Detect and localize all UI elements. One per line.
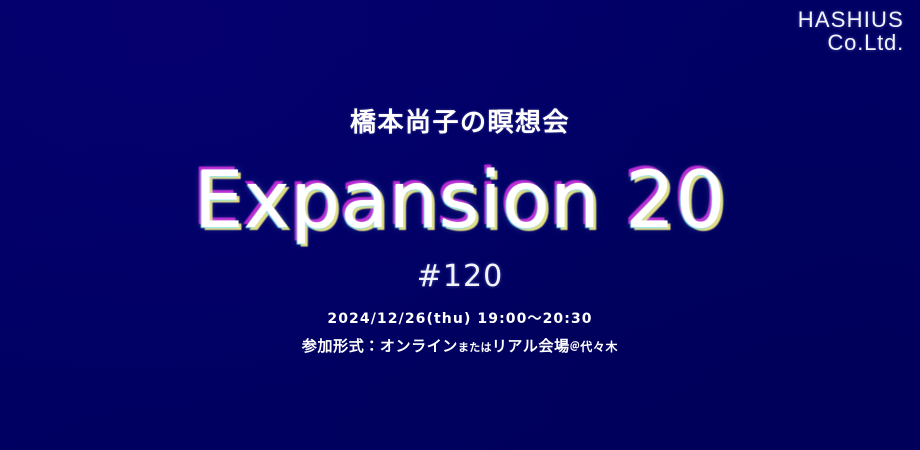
brand-suffix: Co.Ltd.: [798, 31, 904, 54]
format-at-symbol: ＠: [570, 342, 581, 353]
event-title-group: Expansion 20 Expansion 20 Expansion 20 E…: [0, 161, 920, 247]
format-label: 参加形式：: [302, 337, 380, 355]
format-option-online: オンライン: [380, 337, 458, 355]
format-conjunction: または: [458, 341, 492, 354]
format-option-venue: リアル会場: [492, 337, 570, 355]
format-venue-name: 代々木: [580, 340, 618, 354]
content-stack: 橋本尚子の瞑想会 Expansion 20 Expansion 20 Expan…: [0, 108, 920, 356]
event-format-line: 参加形式：オンラインまたはリアル会場＠代々木: [0, 335, 920, 356]
event-issue-number: #120: [0, 259, 920, 294]
poster-canvas: HASHIUS Co.Ltd. 橋本尚子の瞑想会 Expansion 20 Ex…: [0, 0, 920, 450]
brand-name: HASHIUS: [798, 8, 904, 31]
event-datetime: 2024/12/26(thu) 19:00〜20:30: [0, 308, 920, 328]
event-subtitle: 橋本尚子の瞑想会: [0, 108, 920, 139]
event-title: Expansion 20: [0, 161, 920, 243]
brand-logo: HASHIUS Co.Ltd.: [798, 8, 904, 55]
